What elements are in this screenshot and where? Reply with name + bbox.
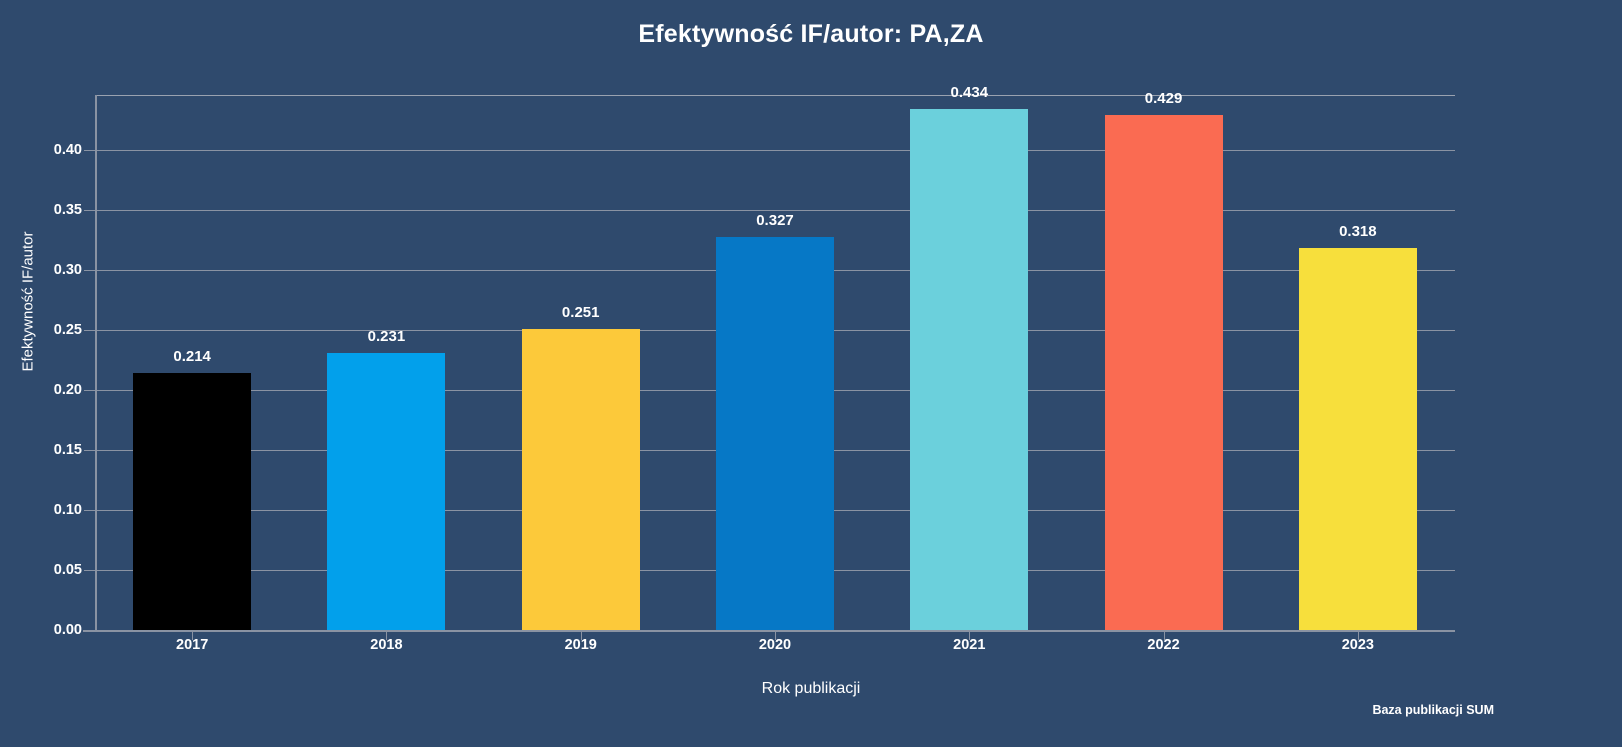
x-axis-line bbox=[83, 630, 1455, 632]
y-tick-label: 0.05 bbox=[4, 562, 82, 578]
bar-value-label-2017: 0.214 bbox=[173, 348, 211, 365]
x-tick-label-2019: 2019 bbox=[501, 637, 661, 653]
bars-layer: 0.2140.2310.2510.3270.4340.4290.318 bbox=[95, 95, 1455, 630]
bar-2023[interactable] bbox=[1299, 248, 1417, 630]
y-tick-label: 0.15 bbox=[4, 442, 82, 458]
x-tick-label-2020: 2020 bbox=[695, 637, 855, 653]
bar-2018[interactable] bbox=[327, 353, 445, 630]
y-tick-label: 0.00 bbox=[4, 622, 82, 638]
chart-title: Efektywność IF/autor: PA,ZA bbox=[0, 20, 1622, 49]
x-axis-title: Rok publikacji bbox=[0, 680, 1622, 698]
bar-2019[interactable] bbox=[522, 329, 640, 630]
bar-value-label-2020: 0.327 bbox=[756, 212, 794, 229]
bar-value-label-2021: 0.434 bbox=[951, 84, 989, 101]
y-tick-mark bbox=[84, 570, 95, 571]
y-tick-label: 0.20 bbox=[4, 382, 82, 398]
bar-2017[interactable] bbox=[133, 373, 251, 630]
y-tick-mark bbox=[84, 390, 95, 391]
bar-2021[interactable] bbox=[910, 109, 1028, 630]
y-tick-mark bbox=[84, 630, 95, 631]
chart-canvas: Efektywność IF/autor: PA,ZA 0.000.050.10… bbox=[0, 0, 1622, 747]
y-tick-label: 0.25 bbox=[4, 322, 82, 338]
y-tick-mark bbox=[84, 450, 95, 451]
bar-2020[interactable] bbox=[716, 237, 834, 630]
bar-group: 0.327 bbox=[678, 95, 872, 630]
bar-value-label-2023: 0.318 bbox=[1339, 223, 1377, 240]
y-tick-label: 0.40 bbox=[4, 142, 82, 158]
bar-value-label-2019: 0.251 bbox=[562, 304, 600, 321]
x-tick-label-2017: 2017 bbox=[112, 637, 272, 653]
y-tick-mark bbox=[84, 510, 95, 511]
bar-group: 0.434 bbox=[872, 95, 1066, 630]
bar-value-label-2022: 0.429 bbox=[1145, 90, 1183, 107]
y-tick-mark bbox=[84, 150, 95, 151]
y-tick-mark bbox=[84, 330, 95, 331]
y-tick-label: 0.35 bbox=[4, 202, 82, 218]
y-axis-title: Efektywność IF/autor bbox=[20, 152, 37, 452]
bar-value-label-2018: 0.231 bbox=[368, 328, 406, 345]
y-tick-label: 0.30 bbox=[4, 262, 82, 278]
x-tick-label-2021: 2021 bbox=[889, 637, 1049, 653]
y-tick-mark bbox=[84, 270, 95, 271]
y-tick-mark bbox=[84, 210, 95, 211]
bar-group: 0.318 bbox=[1261, 95, 1455, 630]
footer-note: Baza publikacji SUM bbox=[1372, 703, 1494, 717]
x-tick-label-2023: 2023 bbox=[1278, 637, 1438, 653]
bar-2022[interactable] bbox=[1105, 115, 1223, 630]
x-tick-label-2022: 2022 bbox=[1084, 637, 1244, 653]
x-tick-label-2018: 2018 bbox=[306, 637, 466, 653]
bar-group: 0.429 bbox=[1066, 95, 1260, 630]
bar-group: 0.214 bbox=[95, 95, 289, 630]
bar-group: 0.251 bbox=[484, 95, 678, 630]
bar-group: 0.231 bbox=[289, 95, 483, 630]
y-tick-label: 0.10 bbox=[4, 502, 82, 518]
